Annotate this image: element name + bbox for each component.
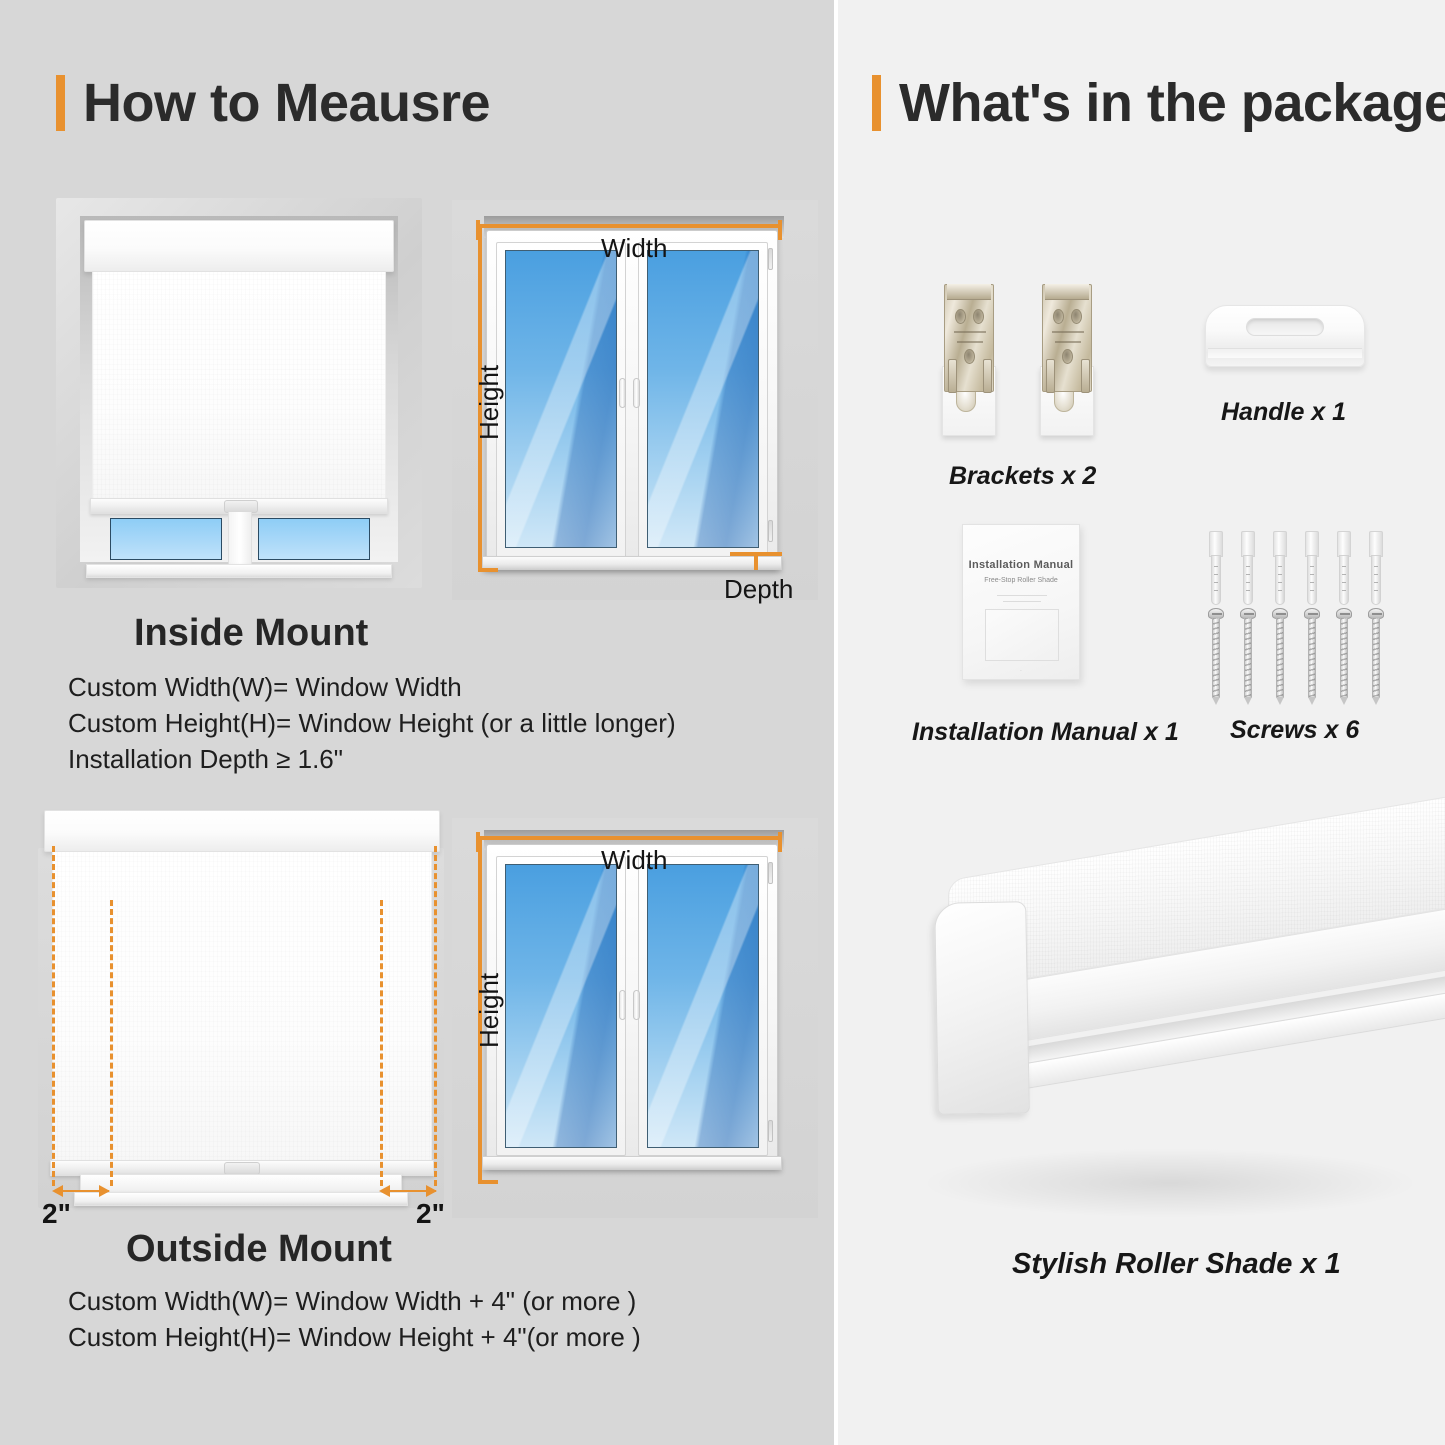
diagram-glass-left <box>505 250 617 548</box>
anchor-head <box>1209 531 1223 557</box>
width-label: Width <box>601 845 667 876</box>
outside-mount-line-1: Custom Width(W)= Window Width + 4" (or m… <box>68 1286 636 1317</box>
screw-tip <box>1340 697 1348 705</box>
bracket-icon-2 <box>1036 278 1098 438</box>
overhang-arrow-head-right-a <box>379 1185 390 1197</box>
bracket-top-flange <box>947 284 991 300</box>
shade-fabric <box>52 852 432 1162</box>
window-glass-left <box>110 518 222 560</box>
diagram-hinge-bottom <box>768 1120 773 1142</box>
screw-shaft <box>1212 618 1220 698</box>
manual-label: Installation Manual x 1 <box>912 718 1179 747</box>
bracket-hole-3 <box>1062 349 1073 364</box>
diagram-handle-right-icon <box>633 378 640 408</box>
outside-mount-shade-illustration <box>38 808 444 1208</box>
screw-shaft <box>1308 618 1316 698</box>
height-label: Height <box>474 973 505 1048</box>
outside-mount-title: Outside Mount <box>126 1228 392 1271</box>
inside-mount-window-diagram: Width Height Depth <box>452 200 818 600</box>
screw-icon-3 <box>1272 608 1288 704</box>
overhang-dashed-left <box>52 846 55 1186</box>
handle-lip <box>1208 348 1362 358</box>
diagram-hinge-top <box>768 862 773 884</box>
anchor-head <box>1337 531 1351 557</box>
width-measure-line <box>476 224 782 228</box>
bracket-hole-3 <box>964 349 975 364</box>
package-title: What's in the package <box>899 72 1445 134</box>
infographic-page: How to Meausre What's in the package <box>0 0 1445 1445</box>
diagram-handle-right-icon <box>633 990 640 1020</box>
bracket-hole-1 <box>955 309 966 324</box>
diagram-glass-left <box>505 864 617 1148</box>
anchor-head <box>1369 531 1383 557</box>
diagram-hinge-bottom <box>768 520 773 542</box>
wall-anchor-icon-3 <box>1272 531 1288 605</box>
overhang-arrow-head-left-b <box>99 1185 110 1197</box>
width-label: Width <box>601 233 667 264</box>
screw-icon-4 <box>1304 608 1320 704</box>
bracket-slot-right <box>1081 359 1090 393</box>
manual-cover-title: Installation Manual <box>963 559 1079 571</box>
screw-tip <box>1212 697 1220 705</box>
window-sill <box>86 564 392 578</box>
inside-mount-line-1: Custom Width(W)= Window Width <box>68 672 462 703</box>
anchor-head <box>1305 531 1319 557</box>
depth-measure-tick <box>754 552 758 570</box>
accent-bar-icon <box>872 75 881 131</box>
handle-grip-slot <box>1246 318 1324 336</box>
handle-label: Handle x 1 <box>1221 398 1346 427</box>
inside-mount-title: Inside Mount <box>134 612 368 655</box>
screw-shaft <box>1276 618 1284 698</box>
shade-cassette <box>84 220 394 272</box>
wall-anchor-icon-6 <box>1368 531 1384 605</box>
how-to-measure-heading: How to Meausre <box>56 72 490 134</box>
accent-bar-icon <box>56 75 65 131</box>
inside-mount-line-3: Installation Depth ≥ 1.6" <box>68 744 343 775</box>
height-measure-cap-top <box>478 224 498 228</box>
overhang-label-left: 2" <box>42 1198 71 1230</box>
bracket-hole-2 <box>1071 309 1082 324</box>
manual-rule-1 <box>997 595 1047 596</box>
bracket-ridge-2 <box>957 341 983 343</box>
wall-anchor-icon-5 <box>1336 531 1352 605</box>
diagram-window-sill <box>482 1156 782 1170</box>
brackets-label: Brackets x 2 <box>949 462 1096 491</box>
manual-cover-image <box>985 609 1059 661</box>
overhang-arrow-head-left-a <box>52 1185 63 1197</box>
roller-shade-shadow <box>920 1148 1420 1218</box>
height-measure-cap-bottom <box>478 1180 498 1184</box>
anchor-body <box>1211 555 1221 605</box>
diagram-handle-left-icon <box>619 990 626 1020</box>
screw-tip <box>1372 697 1380 705</box>
diagram-glass-right <box>647 250 759 548</box>
outside-mount-window-diagram: Width Height <box>452 818 818 1218</box>
bracket-top-flange <box>1045 284 1089 300</box>
shade-cassette <box>44 810 440 852</box>
window-glass-right <box>258 518 370 560</box>
roller-shade-end-cap <box>934 901 1030 1115</box>
anchor-body <box>1339 555 1349 605</box>
bracket-ridge-2 <box>1055 341 1081 343</box>
anchor-body <box>1307 555 1317 605</box>
screw-icon-1 <box>1208 608 1224 704</box>
bracket-slot-left <box>1046 359 1055 393</box>
roller-shade-label: Stylish Roller Shade x 1 <box>1012 1248 1341 1281</box>
screw-tip <box>1276 697 1284 705</box>
manual-rule-2 <box>1003 601 1041 602</box>
roller-shade-icon <box>900 880 1445 1220</box>
wall-anchor-icon-1 <box>1208 531 1224 605</box>
anchor-head <box>1241 531 1255 557</box>
wall-anchor-icon-2 <box>1240 531 1256 605</box>
screw-icon-5 <box>1336 608 1352 704</box>
height-measure-cap-top <box>478 836 498 840</box>
diagram-glass-right <box>647 864 759 1148</box>
bracket-ridge-1 <box>1052 331 1084 333</box>
inside-mount-line-2: Custom Height(H)= Window Height (or a li… <box>68 708 676 739</box>
screw-shaft <box>1340 618 1348 698</box>
screw-tip <box>1308 697 1316 705</box>
diagram-hinge-top <box>768 248 773 270</box>
bracket-icon-1 <box>938 278 1000 438</box>
screw-shaft <box>1244 618 1252 698</box>
width-measure-line <box>476 836 782 840</box>
bracket-slot-left <box>948 359 957 393</box>
outside-mount-line-2: Custom Height(H)= Window Height + 4"(or … <box>68 1322 641 1353</box>
bracket-metal-body <box>1042 284 1092 392</box>
anchor-head <box>1273 531 1287 557</box>
bracket-hole-2 <box>973 309 984 324</box>
manual-cover-subtitle: Free-Stop Roller Shade <box>963 577 1079 584</box>
overhang-label-right: 2" <box>416 1198 445 1230</box>
window-sill-outer <box>74 1192 408 1206</box>
how-to-measure-title: How to Meausre <box>83 72 490 134</box>
screw-icon-2 <box>1240 608 1256 704</box>
screw-icon-6 <box>1368 608 1384 704</box>
screw-tip <box>1244 697 1252 705</box>
wall-anchor-icon-4 <box>1304 531 1320 605</box>
inside-mount-shade-illustration <box>56 198 422 588</box>
anchor-body <box>1243 555 1253 605</box>
bracket-slot-right <box>983 359 992 393</box>
package-heading: What's in the package <box>872 72 1445 134</box>
screws-label: Screws x 6 <box>1230 716 1359 745</box>
handle-icon <box>1205 305 1365 367</box>
overhang-dashed-right <box>434 846 437 1186</box>
window-mullion <box>228 512 252 568</box>
anchor-body <box>1371 555 1381 605</box>
overhang-inner-dashed-right <box>380 900 383 1186</box>
bracket-metal-body <box>944 284 994 392</box>
height-label: Height <box>474 365 505 440</box>
bracket-ridge-1 <box>954 331 986 333</box>
width-measure-cap-right <box>778 220 782 240</box>
overhang-arrow-head-right-b <box>426 1185 437 1197</box>
manual-icon: Installation Manual Free-Stop Roller Sha… <box>962 524 1080 680</box>
manual-cover-footer: . <box>963 667 1079 673</box>
height-measure-cap-bottom <box>478 568 498 572</box>
anchor-body <box>1275 555 1285 605</box>
shade-fabric <box>92 272 386 500</box>
screw-shaft <box>1372 618 1380 698</box>
overhang-inner-dashed-left <box>110 900 113 1186</box>
bracket-hole-1 <box>1053 309 1064 324</box>
depth-label: Depth <box>724 574 793 605</box>
diagram-window-sill <box>482 556 782 570</box>
width-measure-cap-right <box>778 832 782 852</box>
diagram-handle-left-icon <box>619 378 626 408</box>
